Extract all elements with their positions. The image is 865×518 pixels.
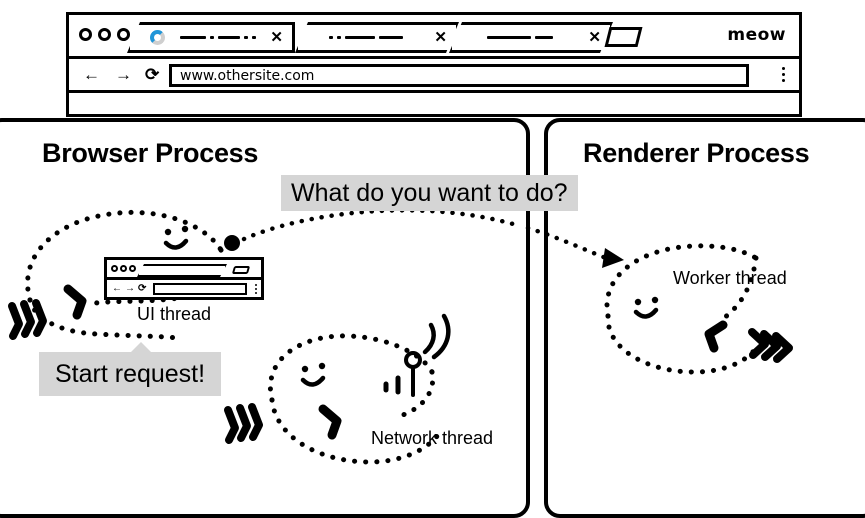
network-thread-eye-left xyxy=(302,366,308,372)
network-thread-motion-lines xyxy=(228,407,259,440)
network-thread-eye-right xyxy=(319,363,325,369)
mini-nav-icons: ←→⟳ xyxy=(112,283,149,295)
speech-bubble-start-request: Start request! xyxy=(39,352,221,396)
worker-thread-arrow xyxy=(709,325,723,348)
mini-kebab-dot xyxy=(255,288,257,290)
mini-close-icon xyxy=(111,265,118,272)
worker-thread-character xyxy=(607,246,789,372)
mini-minimize-icon xyxy=(120,265,127,272)
mini-new-tab-icon xyxy=(232,266,250,274)
speech-bubble-what-do-you-want-to-do: What do you want to do? xyxy=(281,175,578,211)
mini-tab-strip xyxy=(107,260,261,280)
mini-kebab-dot xyxy=(255,284,257,286)
worker-thread-eye-right xyxy=(652,297,658,303)
worker-thread-mouth xyxy=(636,310,656,317)
mini-window-controls xyxy=(111,265,136,272)
thread-label-network: Network thread xyxy=(371,428,493,449)
network-thread-arrow xyxy=(323,409,337,435)
ui-thread-arrow xyxy=(68,289,82,315)
mini-kebab-icon xyxy=(255,284,257,294)
thread-label-ui: UI thread xyxy=(137,304,211,325)
mini-browser-window-icon: ←→⟳ xyxy=(104,257,264,300)
worker-thread-motion-lines xyxy=(752,332,789,359)
ui-thread-mouth xyxy=(166,241,186,248)
wifi-antenna-icon xyxy=(386,316,448,395)
mini-url-field xyxy=(153,283,247,295)
mini-maximize-icon xyxy=(129,265,136,272)
diagram-canvas: ✕ ✕ ✕ meow ← → ⟳ xyxy=(0,0,865,504)
flow-arrowhead xyxy=(602,248,624,268)
thread-label-worker: Worker thread xyxy=(673,268,787,289)
mini-browser-tab xyxy=(137,264,227,277)
ui-thread-eye-right xyxy=(182,226,188,232)
worker-thread-eye-left xyxy=(635,299,641,305)
request-flow-arrow xyxy=(224,210,624,268)
flow-origin-dot xyxy=(224,235,240,251)
ui-thread-eye-left xyxy=(165,229,171,235)
ui-thread-motion-lines xyxy=(12,303,43,336)
mini-kebab-dot xyxy=(255,292,257,294)
network-thread-mouth xyxy=(303,378,323,385)
